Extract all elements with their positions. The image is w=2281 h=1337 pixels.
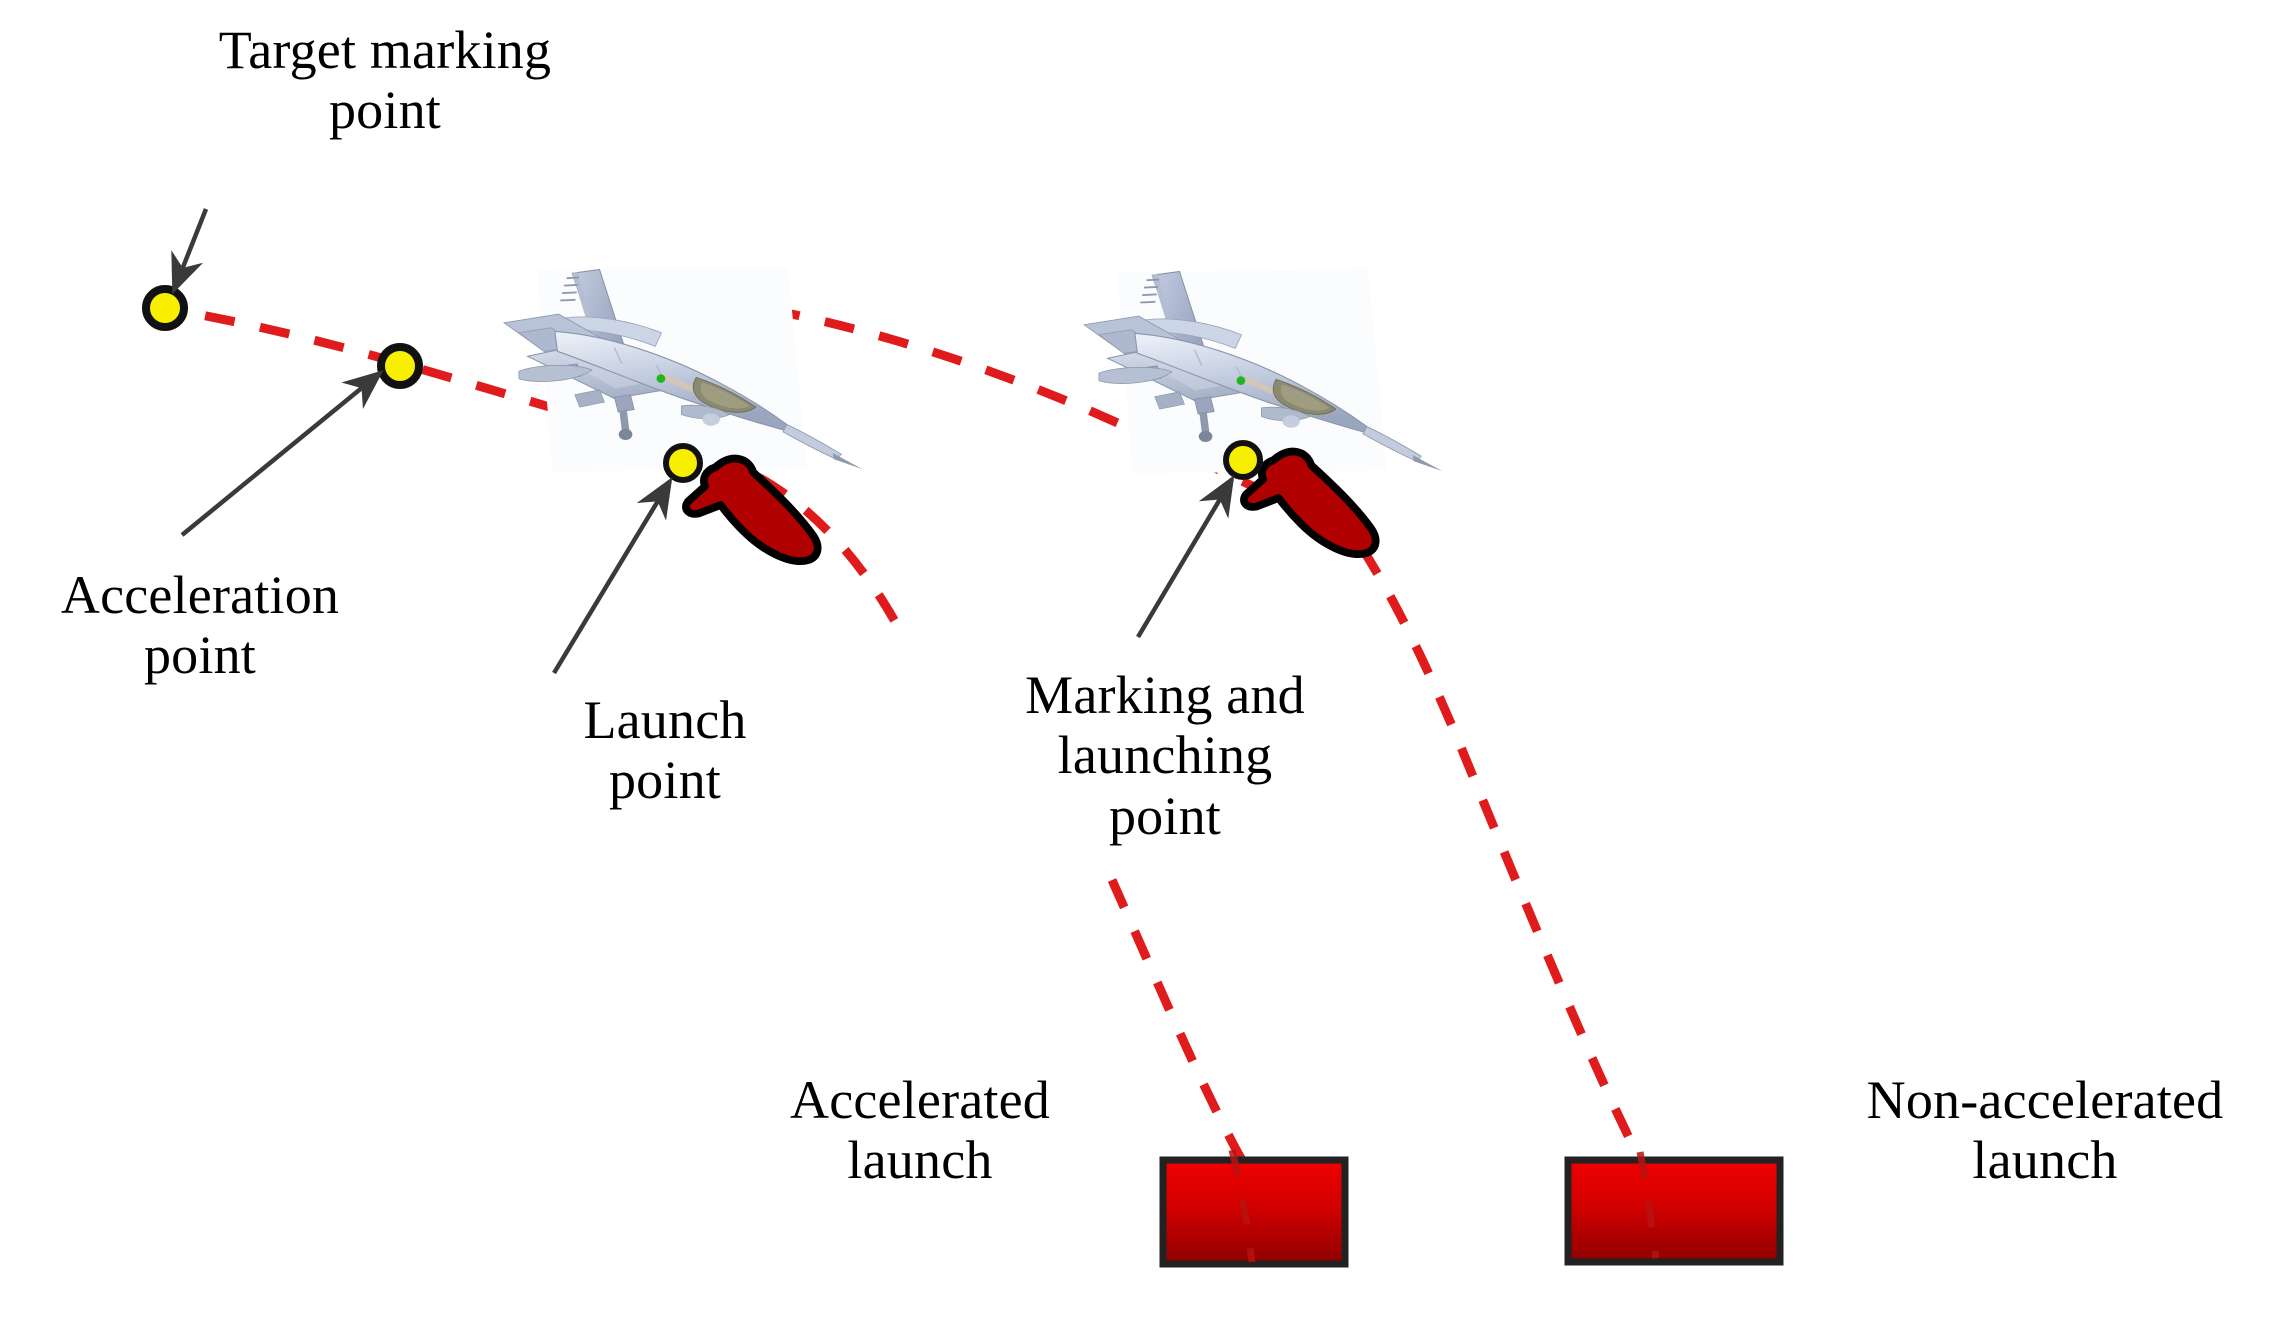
label-acceleration-point: Acceleration point — [10, 565, 390, 686]
leader-launch-point — [554, 481, 670, 673]
label-launch-point: Launch point — [500, 690, 830, 811]
leader-target-marking-point — [174, 209, 206, 290]
aircraft-non-accelerated — [1084, 269, 1442, 474]
trajectory-group — [150, 300, 1660, 1184]
label-non-accelerated-launch: Non-accelerated launch — [1815, 1070, 2275, 1191]
target-non-accelerated — [1568, 1160, 1780, 1262]
leader-marking-launch-point — [1138, 479, 1232, 637]
marking-launch-point-marker[interactable] — [1226, 443, 1260, 477]
diagram-canvas: Target marking point Acceleration point … — [0, 0, 2281, 1337]
launch-point-marker[interactable] — [666, 446, 700, 480]
label-marking-and-launching-point: Marking and launching point — [950, 665, 1380, 846]
acceleration-point-marker[interactable] — [381, 347, 419, 385]
target-marking-point-marker[interactable] — [146, 289, 184, 327]
accelerated-launch-trajectory-lower — [1112, 880, 1250, 1172]
label-target-marking-point: Target marking point — [150, 20, 620, 141]
target-accelerated — [1163, 1160, 1345, 1264]
aircraft-accelerated — [504, 267, 862, 472]
leader-acceleration-point — [182, 373, 380, 535]
label-accelerated-launch: Accelerated launch — [720, 1070, 1120, 1191]
missile-accelerated — [686, 459, 818, 562]
